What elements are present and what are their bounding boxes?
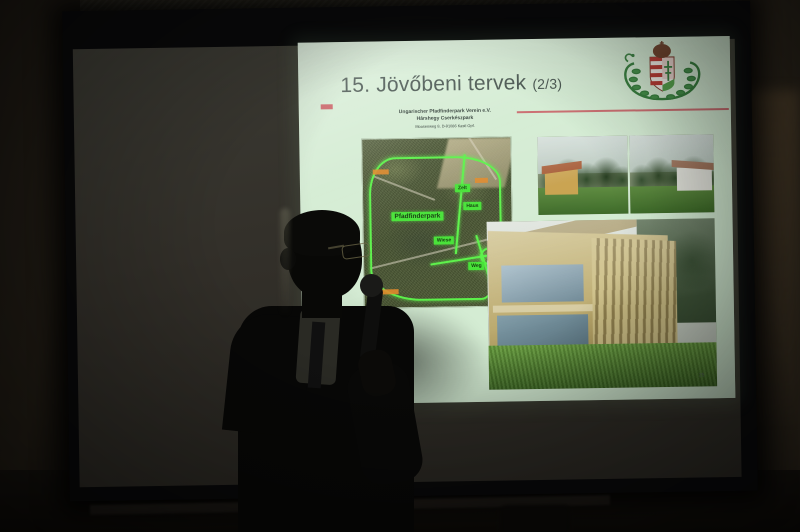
title-underline [517,108,729,114]
slide-title-main: 15. Jövőbeni tervek [340,71,526,97]
map-label: Zelt [455,184,470,192]
photo-modern-timber-building [487,218,718,390]
photo-scene: 15. Jövőbeni tervek (2/3) [0,0,800,532]
map-marker [475,178,488,183]
hungarian-coat-of-arms-icon [614,40,711,104]
caption-line-3: Moosenweg 8, D-91086 Kastl Opf. [361,122,529,130]
photo-sheen [629,134,714,213]
photo-sheen [487,218,718,390]
map-label: Haus [463,202,481,210]
slide-caption-block: Ungarischer Pfadfinderpark Verein e.V. H… [361,107,529,130]
glasses-icon [341,242,371,260]
map-label: Wiese [434,236,455,244]
slide-page-number: 25 [699,372,705,378]
foreground-object [500,505,570,532]
photo-sheen [537,136,628,215]
title-accent-tab [321,104,333,109]
presenter-rim-light [280,208,290,318]
map-label: Weg [468,262,485,270]
map-marker [373,169,389,174]
photo-yellow-house [537,136,628,215]
photo-white-house [629,134,714,213]
slide-title: 15. Jövőbeni tervek (2/3) [340,71,562,98]
slide-title-sub: (2/3) [532,76,562,92]
presenter-silhouette [236,214,426,532]
